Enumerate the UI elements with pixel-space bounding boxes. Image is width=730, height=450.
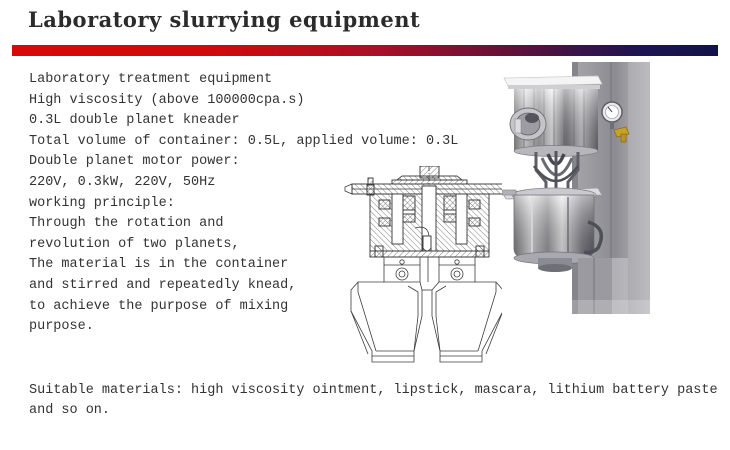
- product-info-slide: Laboratory slurrying equipment Laborator…: [0, 0, 730, 450]
- spec-line: revolution of two planets,: [29, 235, 359, 256]
- spec-line: working principle:: [29, 194, 359, 215]
- spec-line: purpose.: [29, 317, 359, 338]
- spec-line: The material is in the container: [29, 255, 359, 276]
- spec-line: Double planet motor power:: [29, 152, 359, 173]
- spec-line: Laboratory treatment equipment: [29, 70, 359, 91]
- page-title: Laboratory slurrying equipment: [28, 7, 420, 32]
- blade-diagram-svg: [342, 166, 517, 366]
- product-photo-svg: [502, 62, 650, 314]
- spec-line: 220V, 0.3kW, 220V, 50Hz: [29, 173, 359, 194]
- spec-line: Through the rotation and: [29, 214, 359, 235]
- spec-line: and stirred and repeatedly knead,: [29, 276, 359, 297]
- blade-cross-section-diagram: [342, 166, 517, 366]
- spec-line: Total volume of container: 0.5L, applied…: [29, 132, 359, 153]
- footer-line: Suitable materials: high viscosity ointm…: [29, 381, 709, 401]
- footer-line: and so on.: [29, 401, 709, 421]
- specification-text-block: Laboratory treatment equipment High visc…: [29, 70, 359, 338]
- spec-line: High viscosity (above 100000cpa.s): [29, 91, 359, 112]
- gradient-divider: [12, 45, 718, 56]
- suitable-materials-text-block: Suitable materials: high viscosity ointm…: [29, 381, 709, 420]
- spec-line: to achieve the purpose of mixing: [29, 297, 359, 318]
- product-photo: [502, 62, 650, 314]
- spec-line: 0.3L double planet kneader: [29, 111, 359, 132]
